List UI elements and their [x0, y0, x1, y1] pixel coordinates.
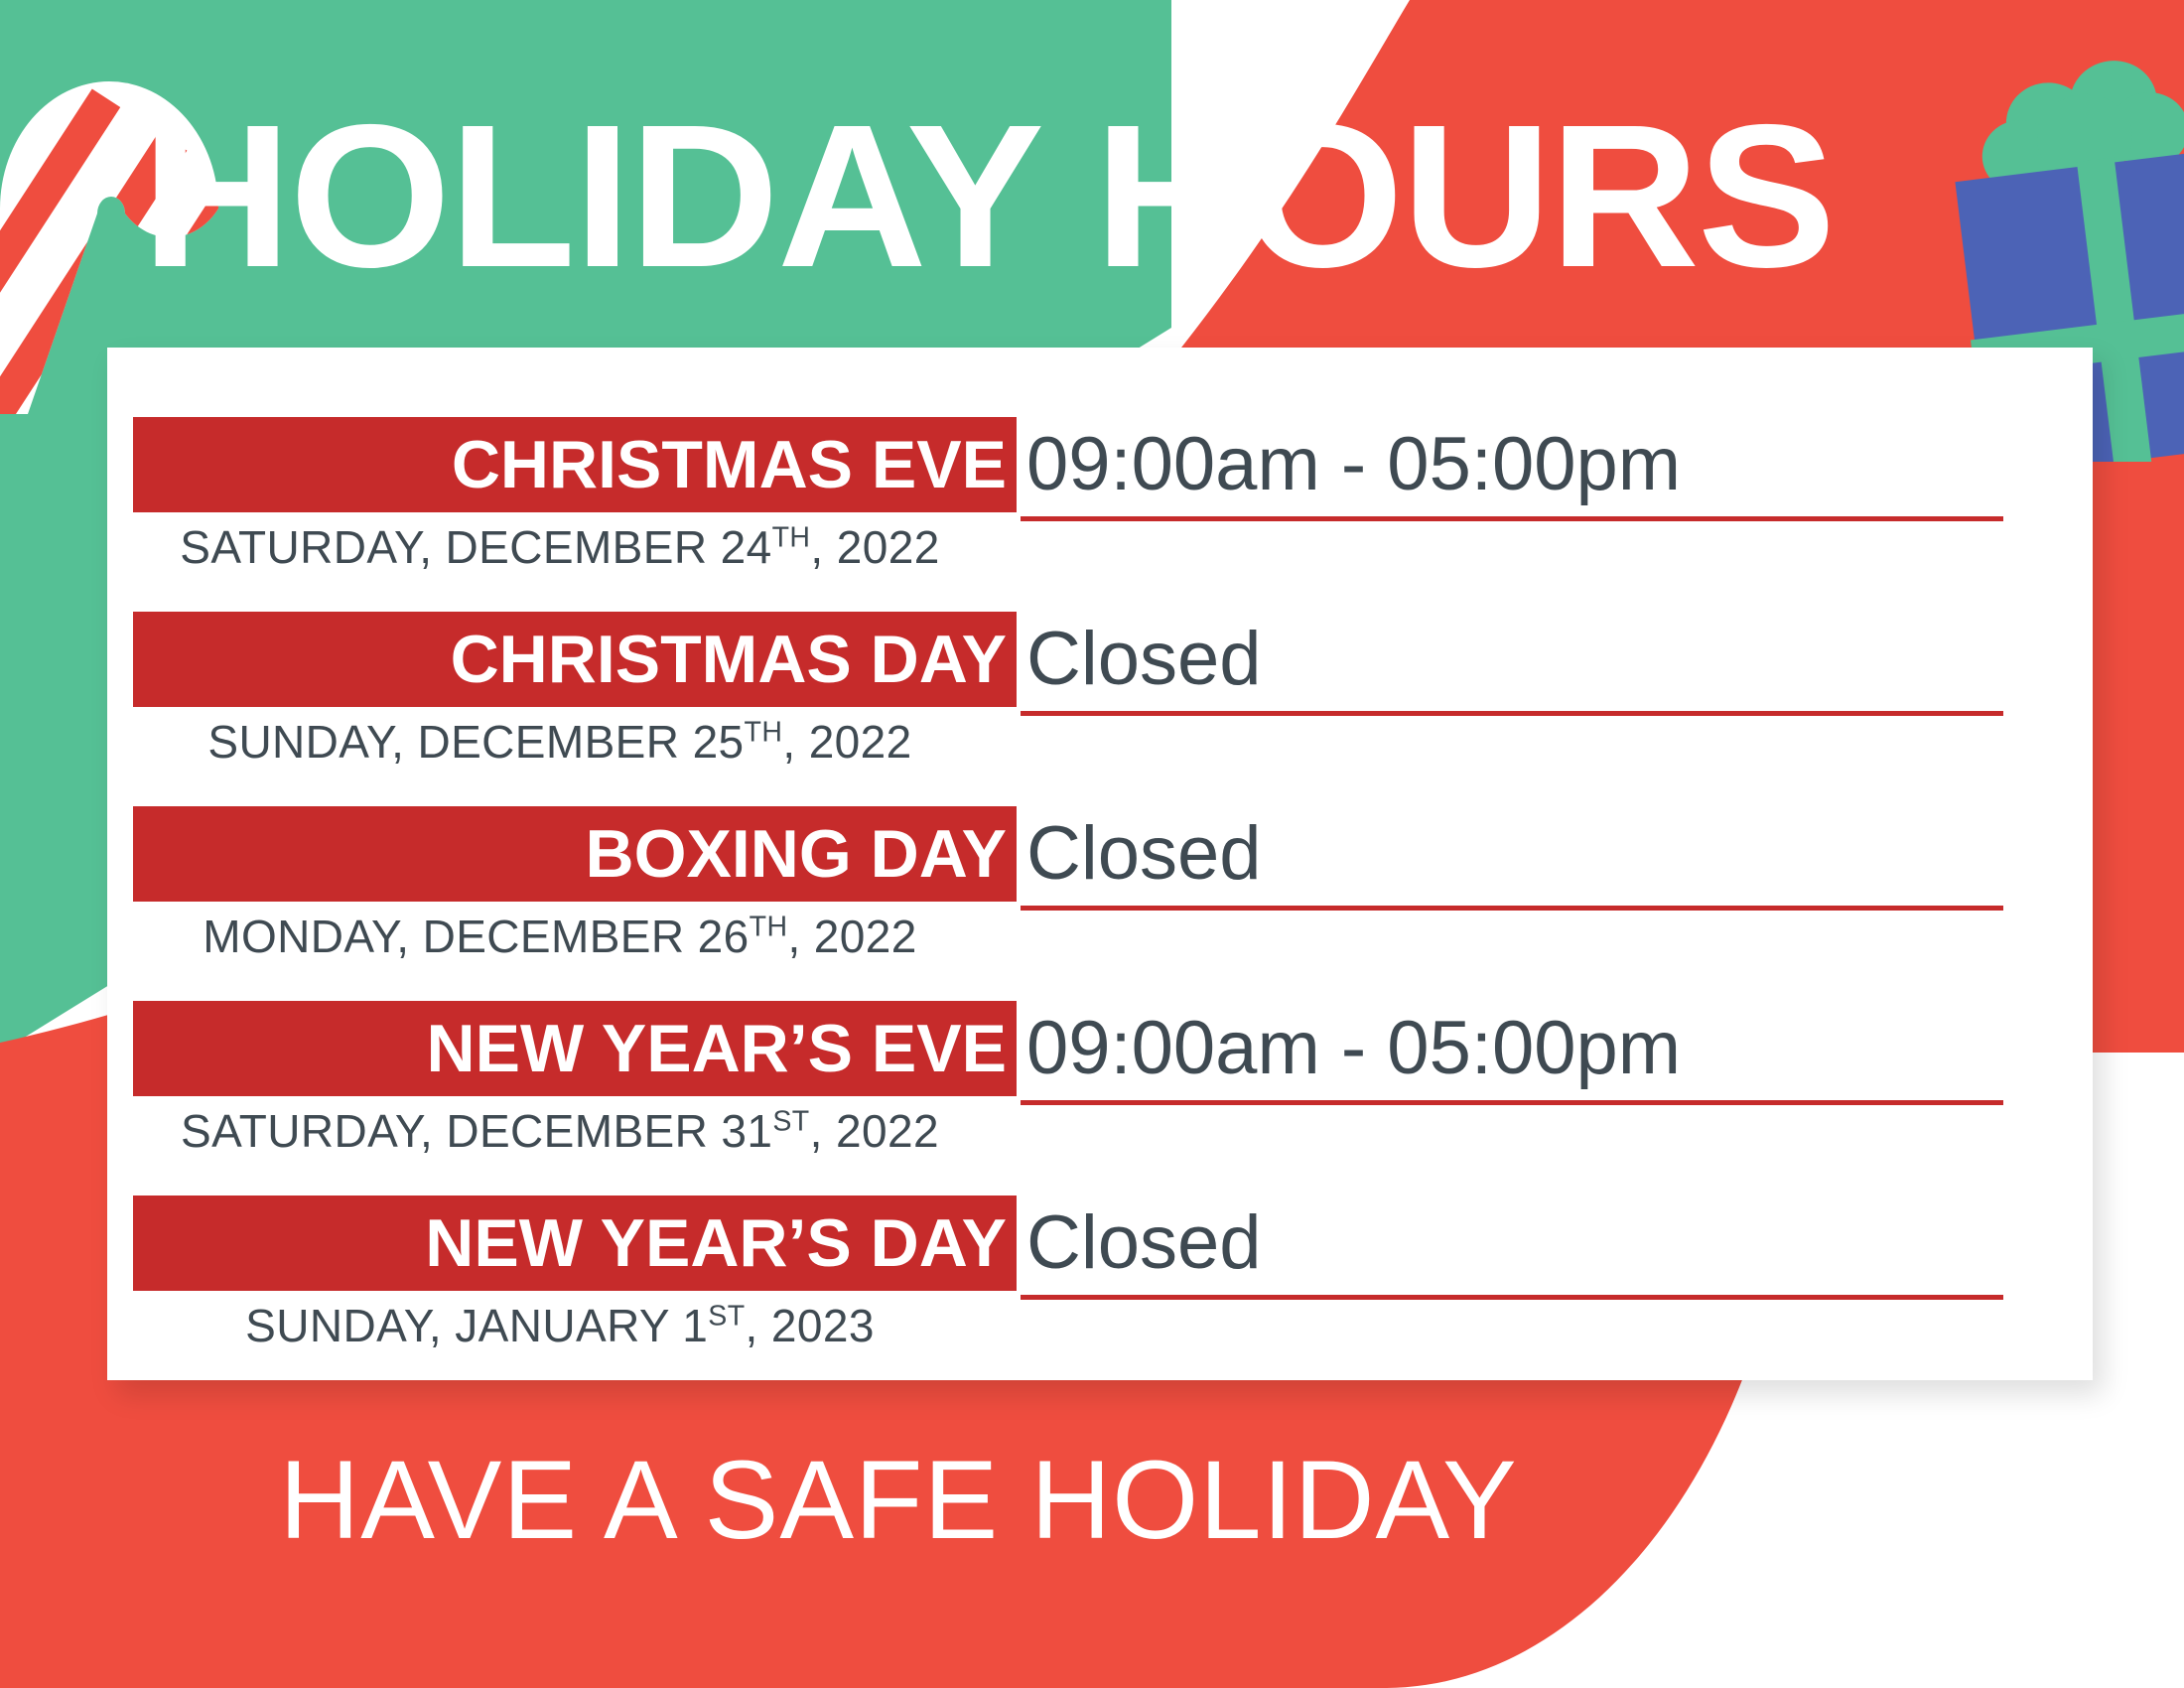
tagline: HAVE A SAFE HOLIDAY	[0, 1445, 1797, 1556]
holiday-column: NEW YEAR’S EVE SATURDAY, DECEMBER 31ST, …	[133, 1001, 1017, 1157]
date-prefix: SUNDAY, JANUARY 1	[245, 1300, 708, 1351]
date-ordinal: TH	[750, 912, 788, 943]
date-prefix: SATURDAY, DECEMBER 31	[181, 1105, 772, 1157]
hours-divider	[1021, 1295, 2003, 1300]
holiday-column: NEW YEAR’S DAY SUNDAY, JANUARY 1ST, 2023	[133, 1196, 1017, 1351]
hours-value: 09:00am - 05:00pm	[1021, 417, 2003, 512]
holiday-hours-poster: HOLIDAY HOURS CHRISTMAS EVE SATURDAY, DE…	[0, 0, 2184, 1688]
date-suffix: , 2022	[787, 911, 916, 962]
hours-column: Closed	[1021, 806, 2003, 911]
hours-value: Closed	[1021, 806, 2003, 902]
schedule-row: CHRISTMAS DAY SUNDAY, DECEMBER 25TH, 202…	[107, 612, 2093, 806]
holiday-date: SUNDAY, DECEMBER 25TH, 2022	[133, 717, 1017, 768]
schedule-row: BOXING DAY MONDAY, DECEMBER 26TH, 2022 C…	[107, 806, 2093, 1001]
date-prefix: SUNDAY, DECEMBER 25	[207, 716, 744, 768]
holiday-date: MONDAY, DECEMBER 26TH, 2022	[133, 912, 1017, 962]
date-ordinal: TH	[772, 522, 811, 554]
date-ordinal: ST	[772, 1106, 809, 1138]
date-ordinal: ST	[708, 1301, 745, 1333]
holiday-column: BOXING DAY MONDAY, DECEMBER 26TH, 2022	[133, 806, 1017, 962]
hours-value: 09:00am - 05:00pm	[1021, 1001, 2003, 1096]
holiday-name: CHRISTMAS DAY	[451, 626, 1007, 693]
holiday-name: BOXING DAY	[586, 820, 1007, 888]
date-suffix: , 2022	[810, 1105, 939, 1157]
schedule-row: NEW YEAR’S DAY SUNDAY, JANUARY 1ST, 2023…	[107, 1196, 2093, 1390]
date-suffix: , 2022	[782, 716, 911, 768]
holiday-name: NEW YEAR’S EVE	[427, 1015, 1007, 1082]
hours-divider	[1021, 711, 2003, 716]
holiday-date: SATURDAY, DECEMBER 31ST, 2022	[133, 1106, 1017, 1157]
holiday-label-bar: CHRISTMAS DAY	[133, 612, 1017, 707]
schedule-rows: CHRISTMAS EVE SATURDAY, DECEMBER 24TH, 2…	[107, 348, 2093, 1380]
hours-value: Closed	[1021, 612, 2003, 707]
date-suffix: , 2023	[746, 1300, 875, 1351]
date-ordinal: TH	[745, 717, 783, 749]
hours-column: Closed	[1021, 1196, 2003, 1300]
schedule-card: CHRISTMAS EVE SATURDAY, DECEMBER 24TH, 2…	[107, 348, 2093, 1380]
holiday-name: NEW YEAR’S DAY	[425, 1209, 1007, 1277]
holiday-label-bar: NEW YEAR’S EVE	[133, 1001, 1017, 1096]
date-prefix: SATURDAY, DECEMBER 24	[180, 521, 771, 573]
hours-column: 09:00am - 05:00pm	[1021, 417, 2003, 521]
hours-divider	[1021, 1100, 2003, 1105]
hours-column: Closed	[1021, 612, 2003, 716]
holiday-name: CHRISTMAS EVE	[452, 431, 1007, 498]
hours-column: 09:00am - 05:00pm	[1021, 1001, 2003, 1105]
holiday-label-bar: NEW YEAR’S DAY	[133, 1196, 1017, 1291]
holiday-column: CHRISTMAS EVE SATURDAY, DECEMBER 24TH, 2…	[133, 417, 1017, 573]
holiday-label-bar: BOXING DAY	[133, 806, 1017, 902]
date-suffix: , 2022	[810, 521, 939, 573]
holiday-date: SUNDAY, JANUARY 1ST, 2023	[133, 1301, 1017, 1351]
holiday-column: CHRISTMAS DAY SUNDAY, DECEMBER 25TH, 202…	[133, 612, 1017, 768]
holiday-date: SATURDAY, DECEMBER 24TH, 2022	[133, 522, 1017, 573]
page-title: HOLIDAY HOURS	[0, 94, 1995, 298]
holiday-label-bar: CHRISTMAS EVE	[133, 417, 1017, 512]
hours-divider	[1021, 906, 2003, 911]
schedule-row: CHRISTMAS EVE SATURDAY, DECEMBER 24TH, 2…	[107, 417, 2093, 612]
hours-divider	[1021, 516, 2003, 521]
hours-value: Closed	[1021, 1196, 2003, 1291]
date-prefix: MONDAY, DECEMBER 26	[203, 911, 749, 962]
schedule-row: NEW YEAR’S EVE SATURDAY, DECEMBER 31ST, …	[107, 1001, 2093, 1196]
